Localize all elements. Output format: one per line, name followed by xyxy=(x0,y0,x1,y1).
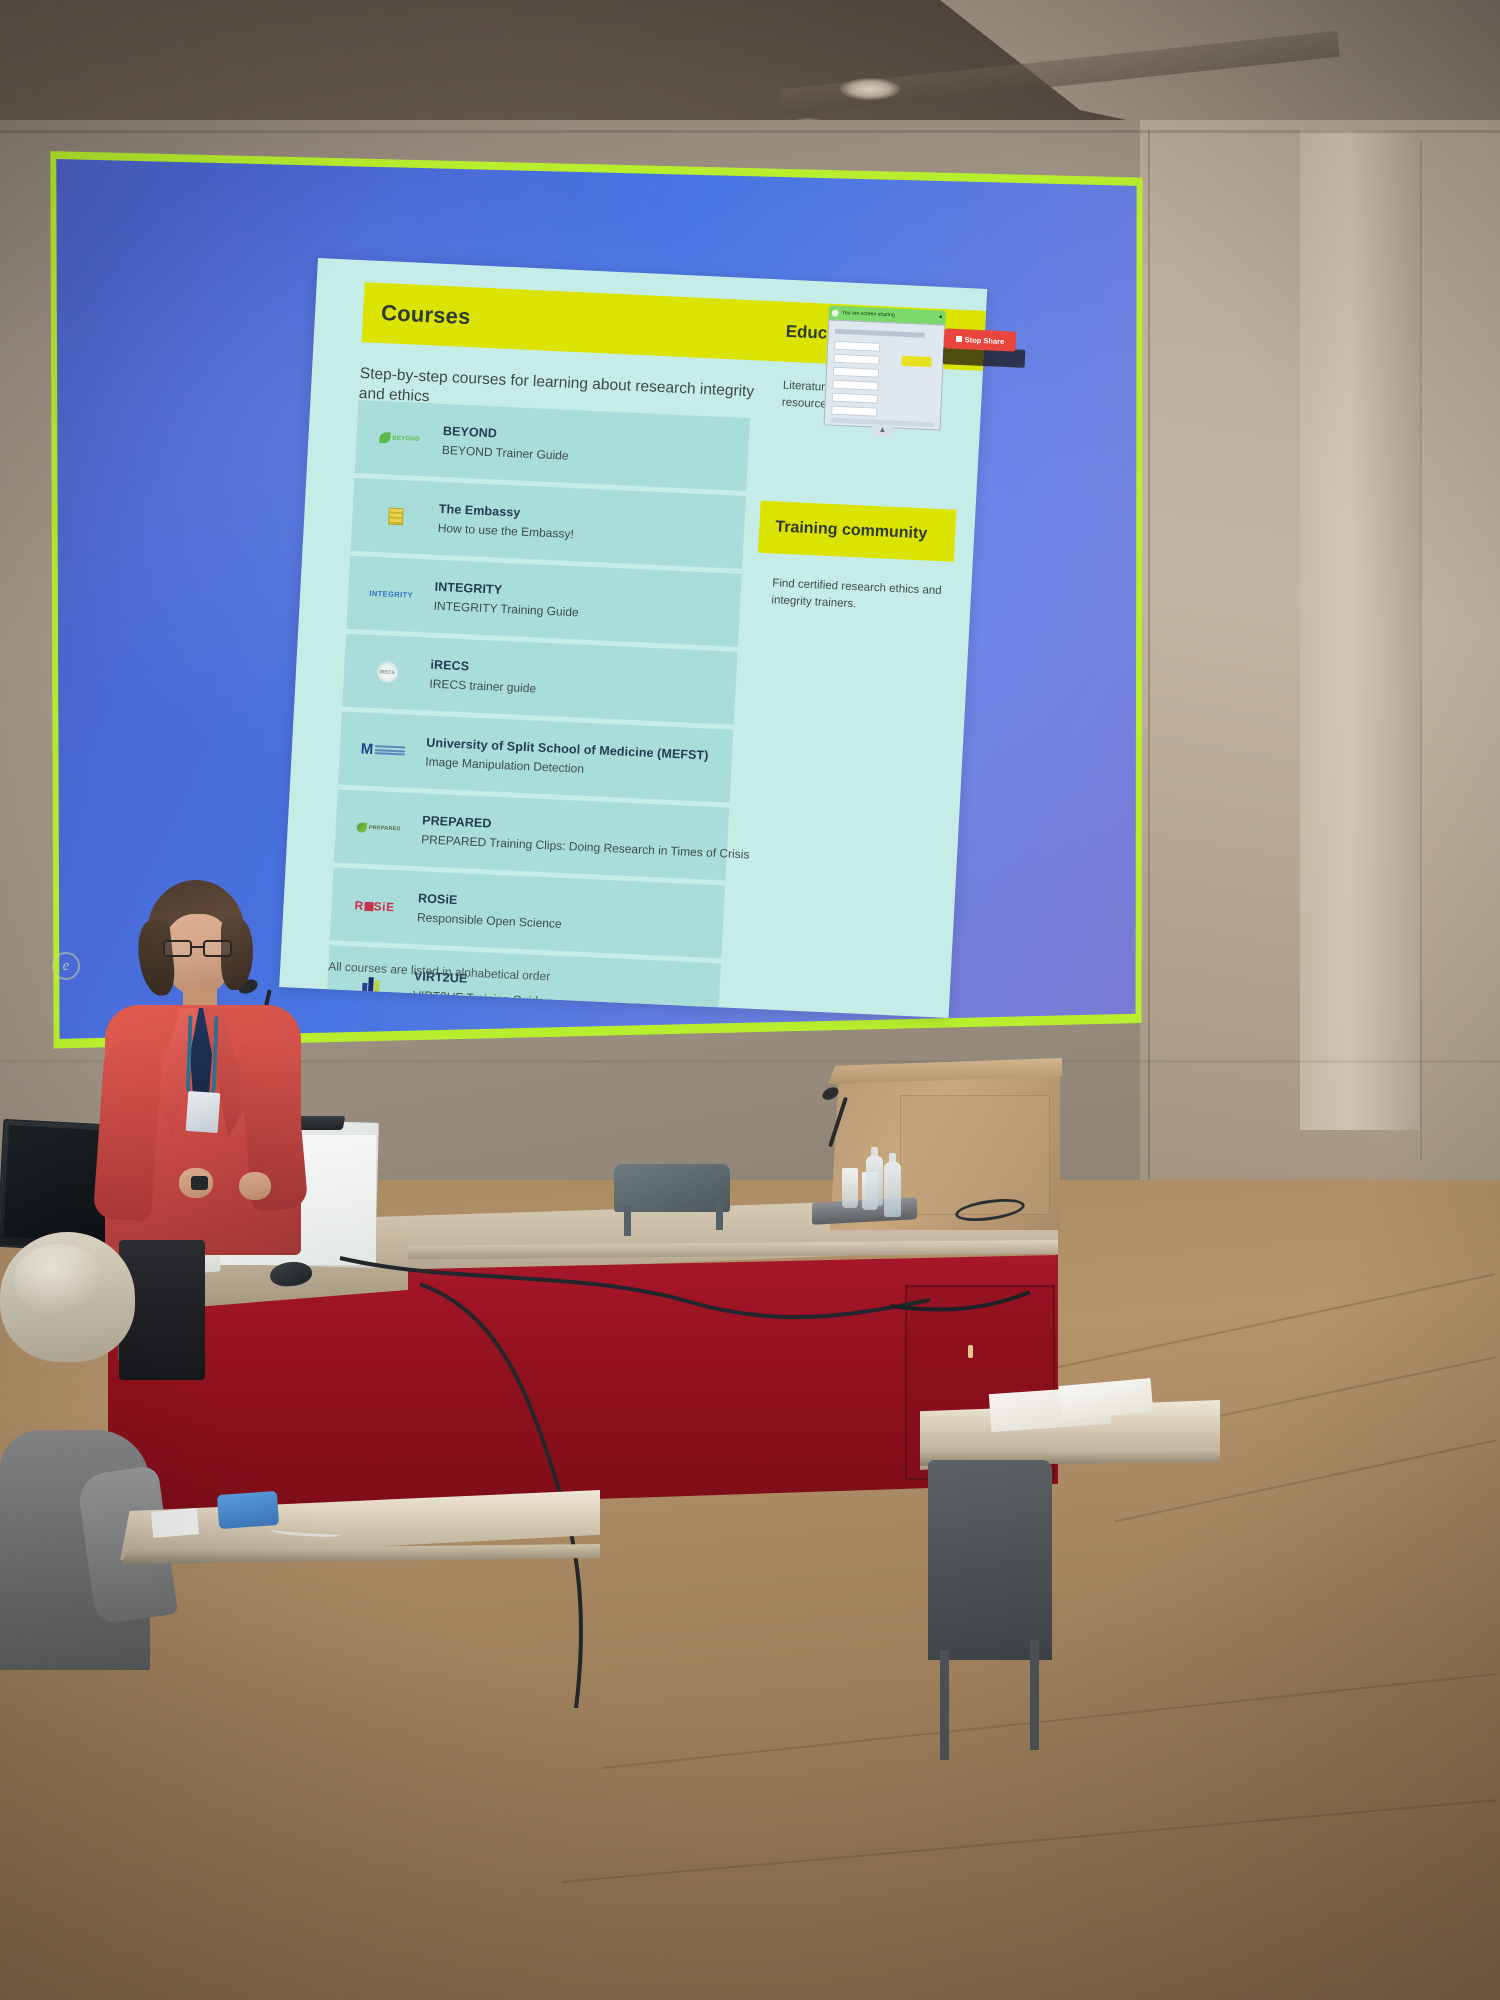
audience-chair-right xyxy=(928,1460,1052,1660)
training-community-header: Training community xyxy=(758,501,957,562)
presenter-glasses xyxy=(163,940,235,957)
courses-list: BEYOND BEYOND BEYOND Trainer Guide The E… xyxy=(325,400,750,1018)
wall-seam-vertical xyxy=(1148,130,1150,1190)
screen-corner-logo: e xyxy=(52,952,80,980)
wall-seam-1 xyxy=(0,130,1500,133)
integrity-logo: INTEGRITY xyxy=(347,572,435,616)
chair-leg xyxy=(1030,1640,1039,1750)
chair-leg xyxy=(716,1200,723,1230)
stop-share-button[interactable]: Stop Share xyxy=(944,328,1017,351)
screen-share-widget[interactable]: You are screen sharing ● ▲ xyxy=(823,305,946,440)
courses-header: Courses xyxy=(362,282,772,361)
list-item[interactable]: M University of Split School of Medicine… xyxy=(338,712,733,803)
list-item[interactable]: The Embassy How to use the Embassy! xyxy=(350,478,745,569)
share-indicator-icon xyxy=(832,309,839,316)
wall-seam-vertical-2 xyxy=(1420,140,1422,1160)
presenter-lanyard xyxy=(186,1016,219,1099)
slide-main-column: Courses Step-by-step courses for learnin… xyxy=(279,258,772,1008)
list-item[interactable]: RSiE ROSiE Responsible Open Science xyxy=(330,867,725,958)
irecs-logo: iRECS xyxy=(343,650,431,694)
shared-screen-thumbnail xyxy=(824,319,946,430)
audience-member-hair-highlight xyxy=(14,1244,104,1314)
chair-leg xyxy=(940,1650,949,1760)
stop-square-icon xyxy=(956,336,962,342)
chair xyxy=(614,1164,730,1212)
stop-share-label: Stop Share xyxy=(965,335,1005,346)
training-community-body: Find certified research ethics and integ… xyxy=(771,575,955,617)
wall-pillar xyxy=(1300,130,1420,1130)
chevron-up-icon[interactable]: ▲ xyxy=(871,425,893,436)
list-item[interactable]: iRECS iRECS IRECS trainer guide xyxy=(342,634,737,725)
paper-sheet xyxy=(151,1508,199,1538)
list-item[interactable]: PREPARED PREPARED PREPARED Training Clip… xyxy=(334,789,729,880)
lecture-hall-scene: e Education Literature, tools and other … xyxy=(0,0,1500,2000)
water-bottle xyxy=(866,1156,883,1206)
presenter-name-badge xyxy=(186,1091,221,1133)
water-bottle xyxy=(884,1162,901,1217)
embassy-logo xyxy=(351,494,439,538)
podium-microphone xyxy=(812,1082,872,1142)
presenter-person xyxy=(95,880,305,1280)
beyond-logo: BEYOND xyxy=(355,416,443,460)
list-item[interactable]: INTEGRITY INTEGRITY INTEGRITY Training G… xyxy=(346,556,741,647)
presenter-clicker xyxy=(191,1176,208,1190)
screen-share-status-label: You are screen sharing xyxy=(842,310,895,318)
podium-front-panel xyxy=(900,1095,1050,1215)
camera-icon[interactable]: ● xyxy=(939,314,943,320)
rosie-logo: RSiE xyxy=(331,884,419,928)
courses-header-label: Courses xyxy=(380,300,471,330)
training-community-header-label: Training community xyxy=(775,518,928,543)
ceiling-light-1 xyxy=(840,78,900,100)
mefst-logo: M xyxy=(339,728,427,772)
drinking-glass xyxy=(842,1168,858,1208)
prepared-logo: PREPARED xyxy=(335,806,423,850)
presenter-hand-right xyxy=(239,1172,271,1200)
